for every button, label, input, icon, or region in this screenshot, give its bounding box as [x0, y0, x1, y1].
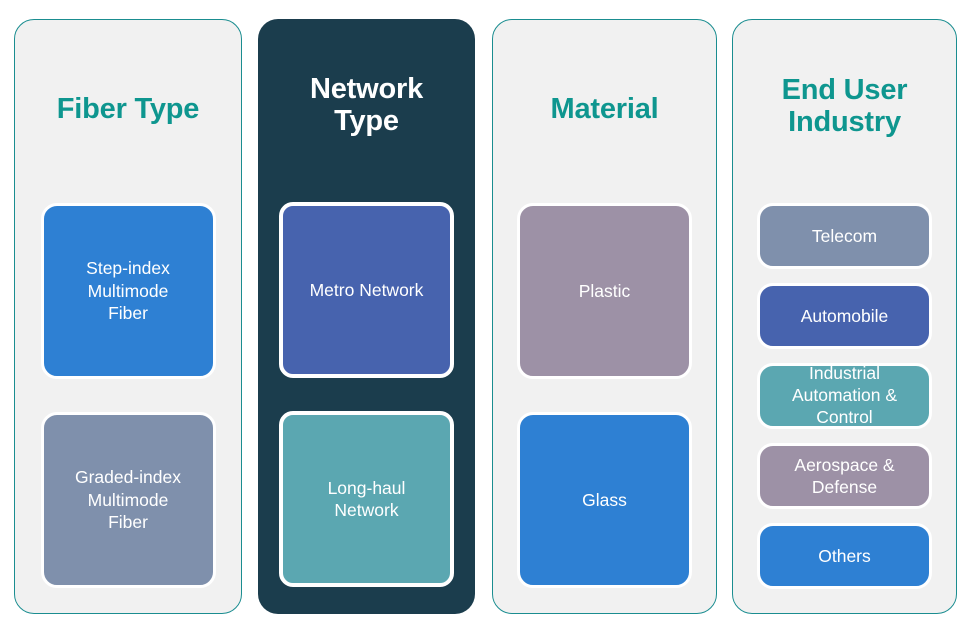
card-automobile[interactable]: Automobile: [757, 283, 932, 349]
panel-end-user-industry: End User IndustryTelecomAutomobileIndust…: [732, 19, 957, 614]
card-label: Long-haul Network: [283, 477, 450, 522]
panel-title-fiber-type: Fiber Type: [24, 93, 232, 125]
card-label: Telecom: [760, 225, 929, 247]
panel-material: MaterialPlasticGlass: [492, 19, 717, 614]
panel-title-network-type: Network Type: [267, 73, 467, 138]
card-label: Automobile: [760, 305, 929, 327]
card-label: Others: [760, 545, 929, 567]
panel-title-material: Material: [502, 93, 707, 125]
card-label: Plastic: [520, 280, 689, 302]
segmentation-diagram: Fiber TypeStep-index Multimode FiberGrad…: [0, 0, 970, 631]
card-stack-network-type: Metro NetworkLong-haul Network: [258, 202, 475, 587]
panel-network-type: Network TypeMetro NetworkLong-haul Netwo…: [258, 19, 475, 614]
card-label: Aerospace & Defense: [760, 454, 929, 498]
card-long-haul-network[interactable]: Long-haul Network: [279, 411, 454, 587]
card-stack-material: PlasticGlass: [493, 203, 716, 588]
card-plastic[interactable]: Plastic: [517, 203, 692, 379]
card-industrial-automation-and-control[interactable]: Industrial Automation & Control: [757, 363, 932, 429]
card-aerospace-and-defense[interactable]: Aerospace & Defense: [757, 443, 932, 509]
card-stack-end-user-industry: TelecomAutomobileIndustrial Automation &…: [733, 203, 956, 589]
card-telecom[interactable]: Telecom: [757, 203, 932, 269]
card-label: Industrial Automation & Control: [760, 363, 929, 429]
card-stack-fiber-type: Step-index Multimode FiberGraded-index M…: [15, 203, 241, 588]
card-label: Step-index Multimode Fiber: [44, 257, 213, 324]
card-glass[interactable]: Glass: [517, 412, 692, 588]
card-step-index-multimode-fiber[interactable]: Step-index Multimode Fiber: [41, 203, 216, 379]
panel-title-end-user-industry: End User Industry: [742, 74, 947, 139]
card-metro-network[interactable]: Metro Network: [279, 202, 454, 378]
card-label: Metro Network: [283, 279, 450, 301]
panel-fiber-type: Fiber TypeStep-index Multimode FiberGrad…: [14, 19, 242, 614]
card-graded-index-multimode-fiber[interactable]: Graded-index Multimode Fiber: [41, 412, 216, 588]
card-label: Graded-index Multimode Fiber: [44, 466, 213, 533]
card-others[interactable]: Others: [757, 523, 932, 589]
card-label: Glass: [520, 489, 689, 511]
